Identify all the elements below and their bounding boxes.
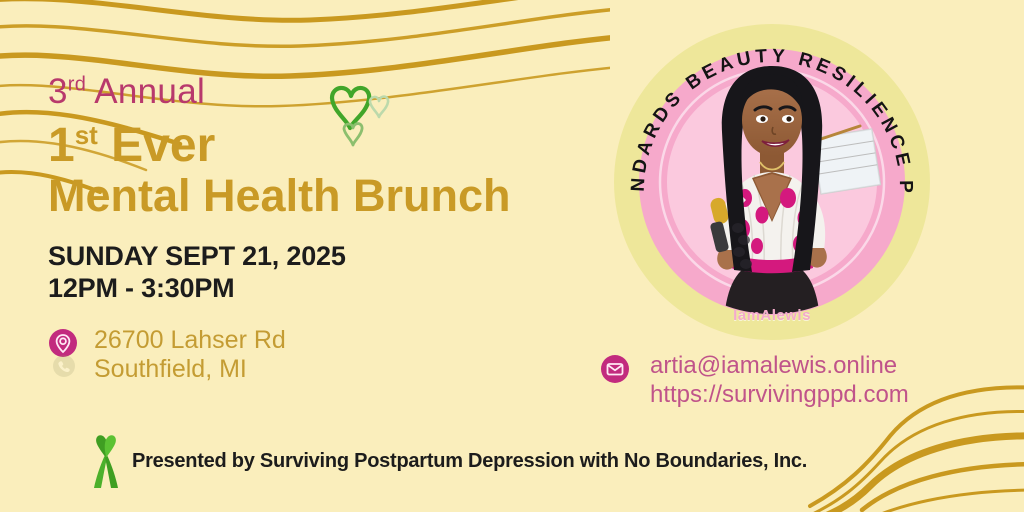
- email-icon: [600, 354, 630, 384]
- page-title: Mental Health Brunch: [48, 171, 593, 221]
- logo-handle-text: IamAlewis: [612, 307, 932, 324]
- date-time-block: SUNDAY SEPT 21, 2025 12PM - 3:30PM: [48, 241, 593, 304]
- contact-block: artia@iamalewis.online https://surviving…: [600, 352, 909, 410]
- address-line-1: 26700 Lahser Rd: [94, 326, 593, 356]
- footer: Presented by Surviving Postpartum Depres…: [86, 432, 807, 490]
- event-details-column: 3rd Annual 1st Ever Mental Health Brunch…: [48, 74, 593, 385]
- ever-ordinal: st: [75, 120, 98, 150]
- annual-heading: 3rd Annual: [48, 74, 593, 109]
- address-line-2: Southfield, MI: [94, 355, 593, 385]
- logo-graphic: STANDARDS BEAUTY RESILIENCE PAIN: [612, 22, 932, 342]
- brand-logo-badge: STANDARDS BEAUTY RESILIENCE PAIN: [612, 22, 932, 342]
- phone-icon: [52, 354, 76, 378]
- awareness-ribbon-icon: [86, 432, 126, 490]
- event-flyer: 3rd Annual 1st Ever Mental Health Brunch…: [0, 0, 1024, 512]
- ever-heading: 1st Ever: [48, 121, 593, 171]
- contact-website[interactable]: https://survivingppd.com: [650, 381, 909, 410]
- annual-ordinal: rd: [68, 73, 86, 95]
- ever-number: 1: [48, 119, 75, 172]
- annual-number: 3: [48, 72, 68, 111]
- event-time: 12PM - 3:30PM: [48, 273, 593, 304]
- ever-word: Ever: [111, 119, 215, 172]
- event-date: SUNDAY SEPT 21, 2025: [48, 241, 593, 272]
- venue-address-block: 26700 Lahser Rd Southfield, MI: [48, 326, 593, 385]
- contact-email[interactable]: artia@iamalewis.online: [650, 352, 909, 381]
- presented-by-text: Presented by Surviving Postpartum Depres…: [132, 450, 807, 473]
- annual-word: Annual: [94, 72, 205, 111]
